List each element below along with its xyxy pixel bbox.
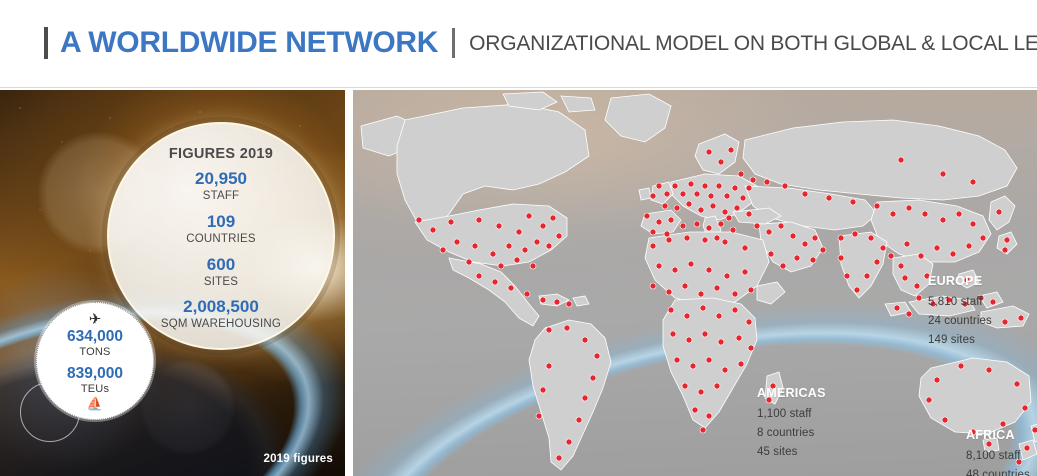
region-americas-staff: 1,100 staff [757,405,826,424]
region-label-europe: EUROPE 5,810 staff 24 countries 149 site… [928,274,992,349]
figures-2019-circle: FIGURES 2019 20,950 STAFF 109 COUNTRIES … [107,122,335,350]
page-title: A WORLDWIDE NETWORK [60,28,438,58]
figures-panel: FIGURES 2019 20,950 STAFF 109 COUNTRIES … [0,90,345,476]
freight-stat-teus: 839,000 TEUs [67,365,123,396]
freight-stat-tons-label: TONS [67,346,123,359]
figure-stat-sites-label: SITES [204,275,238,289]
figure-stat-staff-label: STAFF [195,189,247,203]
figure-stat-staff-value: 20,950 [195,170,247,189]
glow-disc-decoration-secondary [140,360,235,455]
region-americas-countries: 8 countries [757,424,826,443]
freight-stat-tons-value: 634,000 [67,328,123,346]
freight-stat-teus-value: 839,000 [67,365,123,383]
region-americas-sites: 45 sites [757,443,826,462]
figure-stat-sites-value: 600 [204,256,238,275]
slide-root: A WORLDWIDE NETWORK ORGANIZATIONAL MODEL… [0,0,1037,476]
ship-icon: ⛵ [87,397,103,410]
region-africa-title: AFRICA [966,428,1030,443]
region-africa-staff: 8,100 staff [966,447,1030,466]
region-europe-title: EUROPE [928,274,992,289]
world-map-panel: EUROPE 5,810 staff 24 countries 149 site… [353,90,1037,476]
region-label-americas: AMERICAS 1,100 staff 8 countries 45 site… [757,386,826,461]
freight-stat-teus-label: TEUs [67,383,123,396]
figure-stat-staff: 20,950 STAFF [195,170,247,203]
figure-stat-sites: 600 SITES [204,256,238,289]
freight-volumes-circle: ✈ 634,000 TONS 839,000 TEUs ⛵ [36,302,154,420]
figures-circle-title: FIGURES 2019 [169,146,273,162]
region-africa-countries: 48 countries [966,466,1030,476]
region-americas-title: AMERICAS [757,386,826,401]
freight-stat-tons: 634,000 TONS [67,328,123,359]
figure-stat-countries-label: COUNTRIES [186,232,256,246]
figure-stat-countries: 109 COUNTRIES [186,213,256,246]
page-subtitle: ORGANIZATIONAL MODEL ON BOTH GLOBAL & LO… [469,33,1037,54]
region-europe-sites: 149 sites [928,331,992,350]
page-header: A WORLDWIDE NETWORK ORGANIZATIONAL MODEL… [0,0,1037,88]
region-label-africa: AFRICA 8,100 staff 48 countries 242 site… [966,428,1030,476]
figure-stat-countries-value: 109 [186,213,256,232]
region-europe-staff: 5,810 staff [928,293,992,312]
figure-stat-warehousing-label: SQM WAREHOUSING [161,317,281,331]
figure-stat-warehousing: 2,008,500 SQM WAREHOUSING [161,298,281,331]
figure-stat-warehousing-value: 2,008,500 [161,298,281,317]
title-accent-bar [44,27,48,59]
airplane-icon: ✈ [89,312,102,327]
title-divider-bar [452,28,455,58]
figures-footnote: 2019 figures [263,453,333,465]
header-title-group: A WORLDWIDE NETWORK ORGANIZATIONAL MODEL… [44,27,1037,59]
region-europe-countries: 24 countries [928,312,992,331]
